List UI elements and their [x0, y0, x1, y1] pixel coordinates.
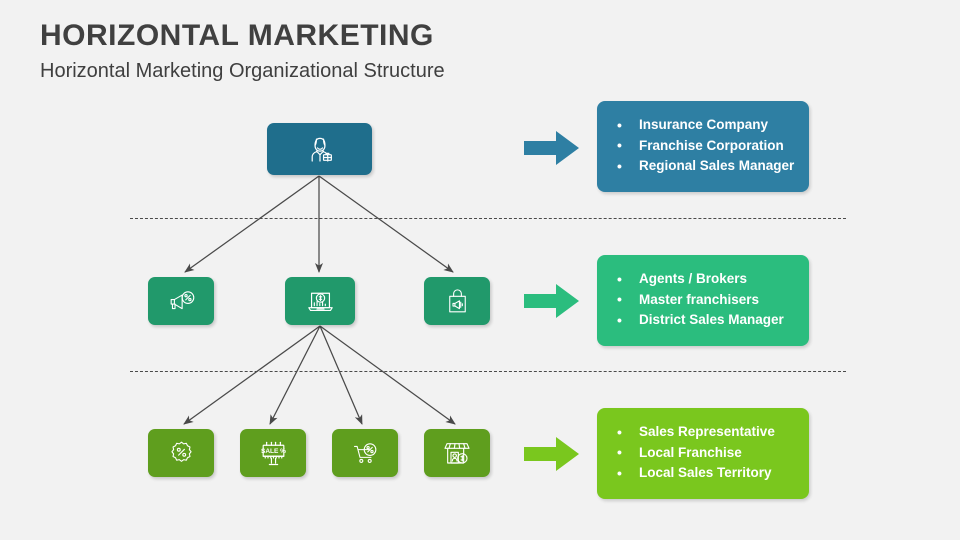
legend-item: Regional Sales Manager: [613, 156, 791, 177]
node-level3-sale-billboard[interactable]: SALE %: [240, 429, 306, 477]
node-level3-storefront[interactable]: [424, 429, 490, 477]
page-title: HORIZONTAL MARKETING: [40, 19, 434, 53]
level1-pointer-arrow: [522, 128, 582, 173]
node-level2-shopping-bag[interactable]: [424, 277, 490, 325]
slide-canvas: HORIZONTAL MARKETING Horizontal Marketin…: [0, 0, 960, 540]
legend-item: Sales Representative: [613, 422, 791, 443]
businessperson-briefcase-icon: [303, 132, 337, 166]
legend-item: Local Sales Territory: [613, 463, 791, 484]
node-level2-megaphone[interactable]: [148, 277, 214, 325]
legend-box-level1: Insurance Company Franchise Corporation …: [597, 101, 809, 192]
svg-text:SALE %: SALE %: [261, 448, 286, 455]
legend-item: Master franchisers: [613, 290, 791, 311]
node-level1-executive[interactable]: [267, 123, 372, 175]
node-level3-shopping-cart[interactable]: [332, 429, 398, 477]
sale-billboard-icon: SALE %: [257, 437, 290, 470]
legend-box-level2: Agents / Brokers Master franchisers Dist…: [597, 255, 809, 346]
legend-list-level1: Insurance Company Franchise Corporation …: [613, 115, 791, 177]
legend-item: Insurance Company: [613, 115, 791, 136]
discount-badge-percent-icon: [166, 438, 197, 469]
node-level2-laptop-analytics[interactable]: [285, 277, 355, 325]
legend-box-level3: Sales Representative Local Franchise Loc…: [597, 408, 809, 499]
legend-item: Local Franchise: [613, 443, 791, 464]
legend-item: Agents / Brokers: [613, 269, 791, 290]
legend-list-level2: Agents / Brokers Master franchisers Dist…: [613, 269, 791, 331]
storefront-dollar-icon: [441, 437, 473, 469]
level-divider-1: [130, 218, 846, 219]
node-level3-discount-badge[interactable]: [148, 429, 214, 477]
legend-list-level3: Sales Representative Local Franchise Loc…: [613, 422, 791, 484]
megaphone-discount-icon: [166, 286, 197, 317]
legend-item: District Sales Manager: [613, 310, 791, 331]
shopping-cart-percent-icon: [350, 438, 381, 469]
laptop-analytics-dollar-icon: [304, 285, 337, 318]
legend-item: Franchise Corporation: [613, 136, 791, 157]
page-subtitle: Horizontal Marketing Organizational Stru…: [40, 60, 445, 83]
level2-pointer-arrow: [522, 281, 582, 326]
level3-pointer-arrow: [522, 434, 582, 479]
level-divider-2: [130, 371, 846, 372]
shopping-bag-megaphone-icon: [442, 286, 473, 317]
